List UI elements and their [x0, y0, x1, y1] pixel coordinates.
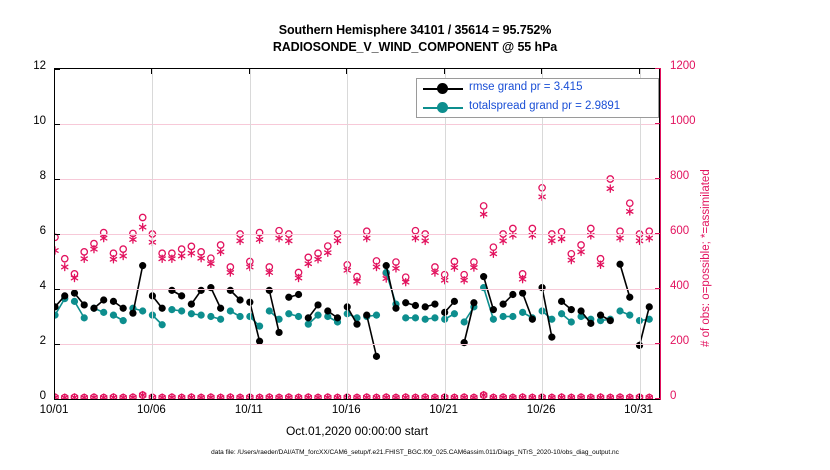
x-axis-tick-10-16: 10/16 [311, 404, 381, 416]
y-right-tickmark [655, 68, 660, 69]
y-axis-right-tick-0: 0 [670, 390, 716, 402]
gridline-vertical [640, 69, 641, 399]
y-axis-left-tick-10: 10 [0, 115, 46, 127]
y-right-tickmark [655, 178, 660, 179]
x-axis-tick-10-06: 10/06 [116, 404, 186, 416]
gridline-horizontal [55, 289, 659, 290]
x-tickmark-bottom [54, 394, 55, 399]
y-axis-left-tick-2: 2 [0, 335, 46, 347]
gridline-vertical [250, 69, 251, 399]
x-tickmark-top [346, 69, 347, 74]
gridline-horizontal [55, 344, 659, 345]
legend-marker-rmse [437, 83, 448, 94]
chart-title: Southern Hemisphere 34101 / 35614 = 95.7… [0, 22, 830, 56]
x-tickmark-bottom [639, 394, 640, 399]
y-axis-right-tick-800: 800 [670, 170, 716, 182]
x-tickmark-bottom [444, 394, 445, 399]
y-left-tickmark [55, 179, 60, 180]
y-axis-right-tick-600: 600 [670, 225, 716, 237]
y-axis-right-tick-400: 400 [670, 280, 716, 292]
figure-canvas: Southern Hemisphere 34101 / 35614 = 95.7… [0, 0, 830, 470]
legend-entry-totalspread[interactable]: totalspread grand pr = 2.9891 [417, 98, 658, 117]
obs-markers-circle+asterisk [55, 392, 652, 399]
y-right-tickmark [655, 288, 660, 289]
chart-title-line1: Southern Hemisphere 34101 / 35614 = 95.7… [0, 22, 830, 39]
legend-entry-rmse[interactable]: rmse grand pr = 3.415 [417, 79, 658, 98]
y-axis-left-tick-0: 0 [0, 390, 46, 402]
y-left-tickmark [55, 234, 60, 235]
legend-marker-totalspread [437, 102, 448, 113]
y-axis-left-tick-12: 12 [0, 60, 46, 72]
y-axis-right-tick-1200: 1200 [670, 60, 716, 72]
x-axis-tick-10-26: 10/26 [506, 404, 576, 416]
y-axis-left-tick-8: 8 [0, 170, 46, 182]
y-left-tickmark [55, 124, 60, 125]
x-tickmark-top [151, 69, 152, 74]
chart-title-line2: RADIOSONDE_V_WIND_COMPONENT @ 55 hPa [0, 39, 830, 56]
y-axis-right-tick-1000: 1000 [670, 115, 716, 127]
y-axis-left-tick-6: 6 [0, 225, 46, 237]
x-axis-tick-10-11: 10/11 [214, 404, 284, 416]
gridline-vertical [542, 69, 543, 399]
y-axis-right-label: # of obs: o=possible; *=assimilated [700, 169, 712, 347]
gridline-vertical [347, 69, 348, 399]
gridline-horizontal [55, 179, 659, 180]
x-axis-label: Oct.01,2020 00:00:00 start [54, 424, 660, 438]
y-right-tickmark [655, 398, 660, 399]
x-tickmark-top [541, 69, 542, 74]
gridline-vertical [445, 69, 446, 399]
gridline-horizontal [55, 234, 659, 235]
y-left-tickmark [55, 69, 60, 70]
x-tickmark-top [54, 69, 55, 74]
x-tickmark-bottom [249, 394, 250, 399]
y-right-tickmark [655, 233, 660, 234]
y-right-tickmark [655, 123, 660, 124]
right-axis-spine [660, 68, 661, 400]
x-tickmark-top [249, 69, 250, 74]
x-tickmark-bottom [151, 394, 152, 399]
x-tickmark-top [444, 69, 445, 74]
gridline-vertical [152, 69, 153, 399]
legend-label-rmse: rmse grand pr = 3.415 [469, 81, 582, 93]
y-left-tickmark [55, 344, 60, 345]
x-axis-tick-10-01: 10/01 [19, 404, 89, 416]
x-axis-tick-10-31: 10/31 [604, 404, 674, 416]
y-left-tickmark [55, 399, 60, 400]
legend-label-totalspread: totalspread grand pr = 2.9891 [469, 100, 620, 112]
y-left-tickmark [55, 289, 60, 290]
y-right-tickmark [655, 343, 660, 344]
x-tickmark-bottom [346, 394, 347, 399]
gridline-horizontal [55, 124, 659, 125]
y-axis-left-tick-4: 4 [0, 280, 46, 292]
data-file-footer: data file: /Users/raeder/DAI/ATM_forcXX/… [0, 449, 830, 456]
x-tickmark-bottom [541, 394, 542, 399]
x-axis-tick-10-21: 10/21 [409, 404, 479, 416]
y-axis-right-tick-200: 200 [670, 335, 716, 347]
legend[interactable]: rmse grand pr = 3.415 totalspread grand … [416, 78, 659, 118]
x-tickmark-top [639, 69, 640, 74]
